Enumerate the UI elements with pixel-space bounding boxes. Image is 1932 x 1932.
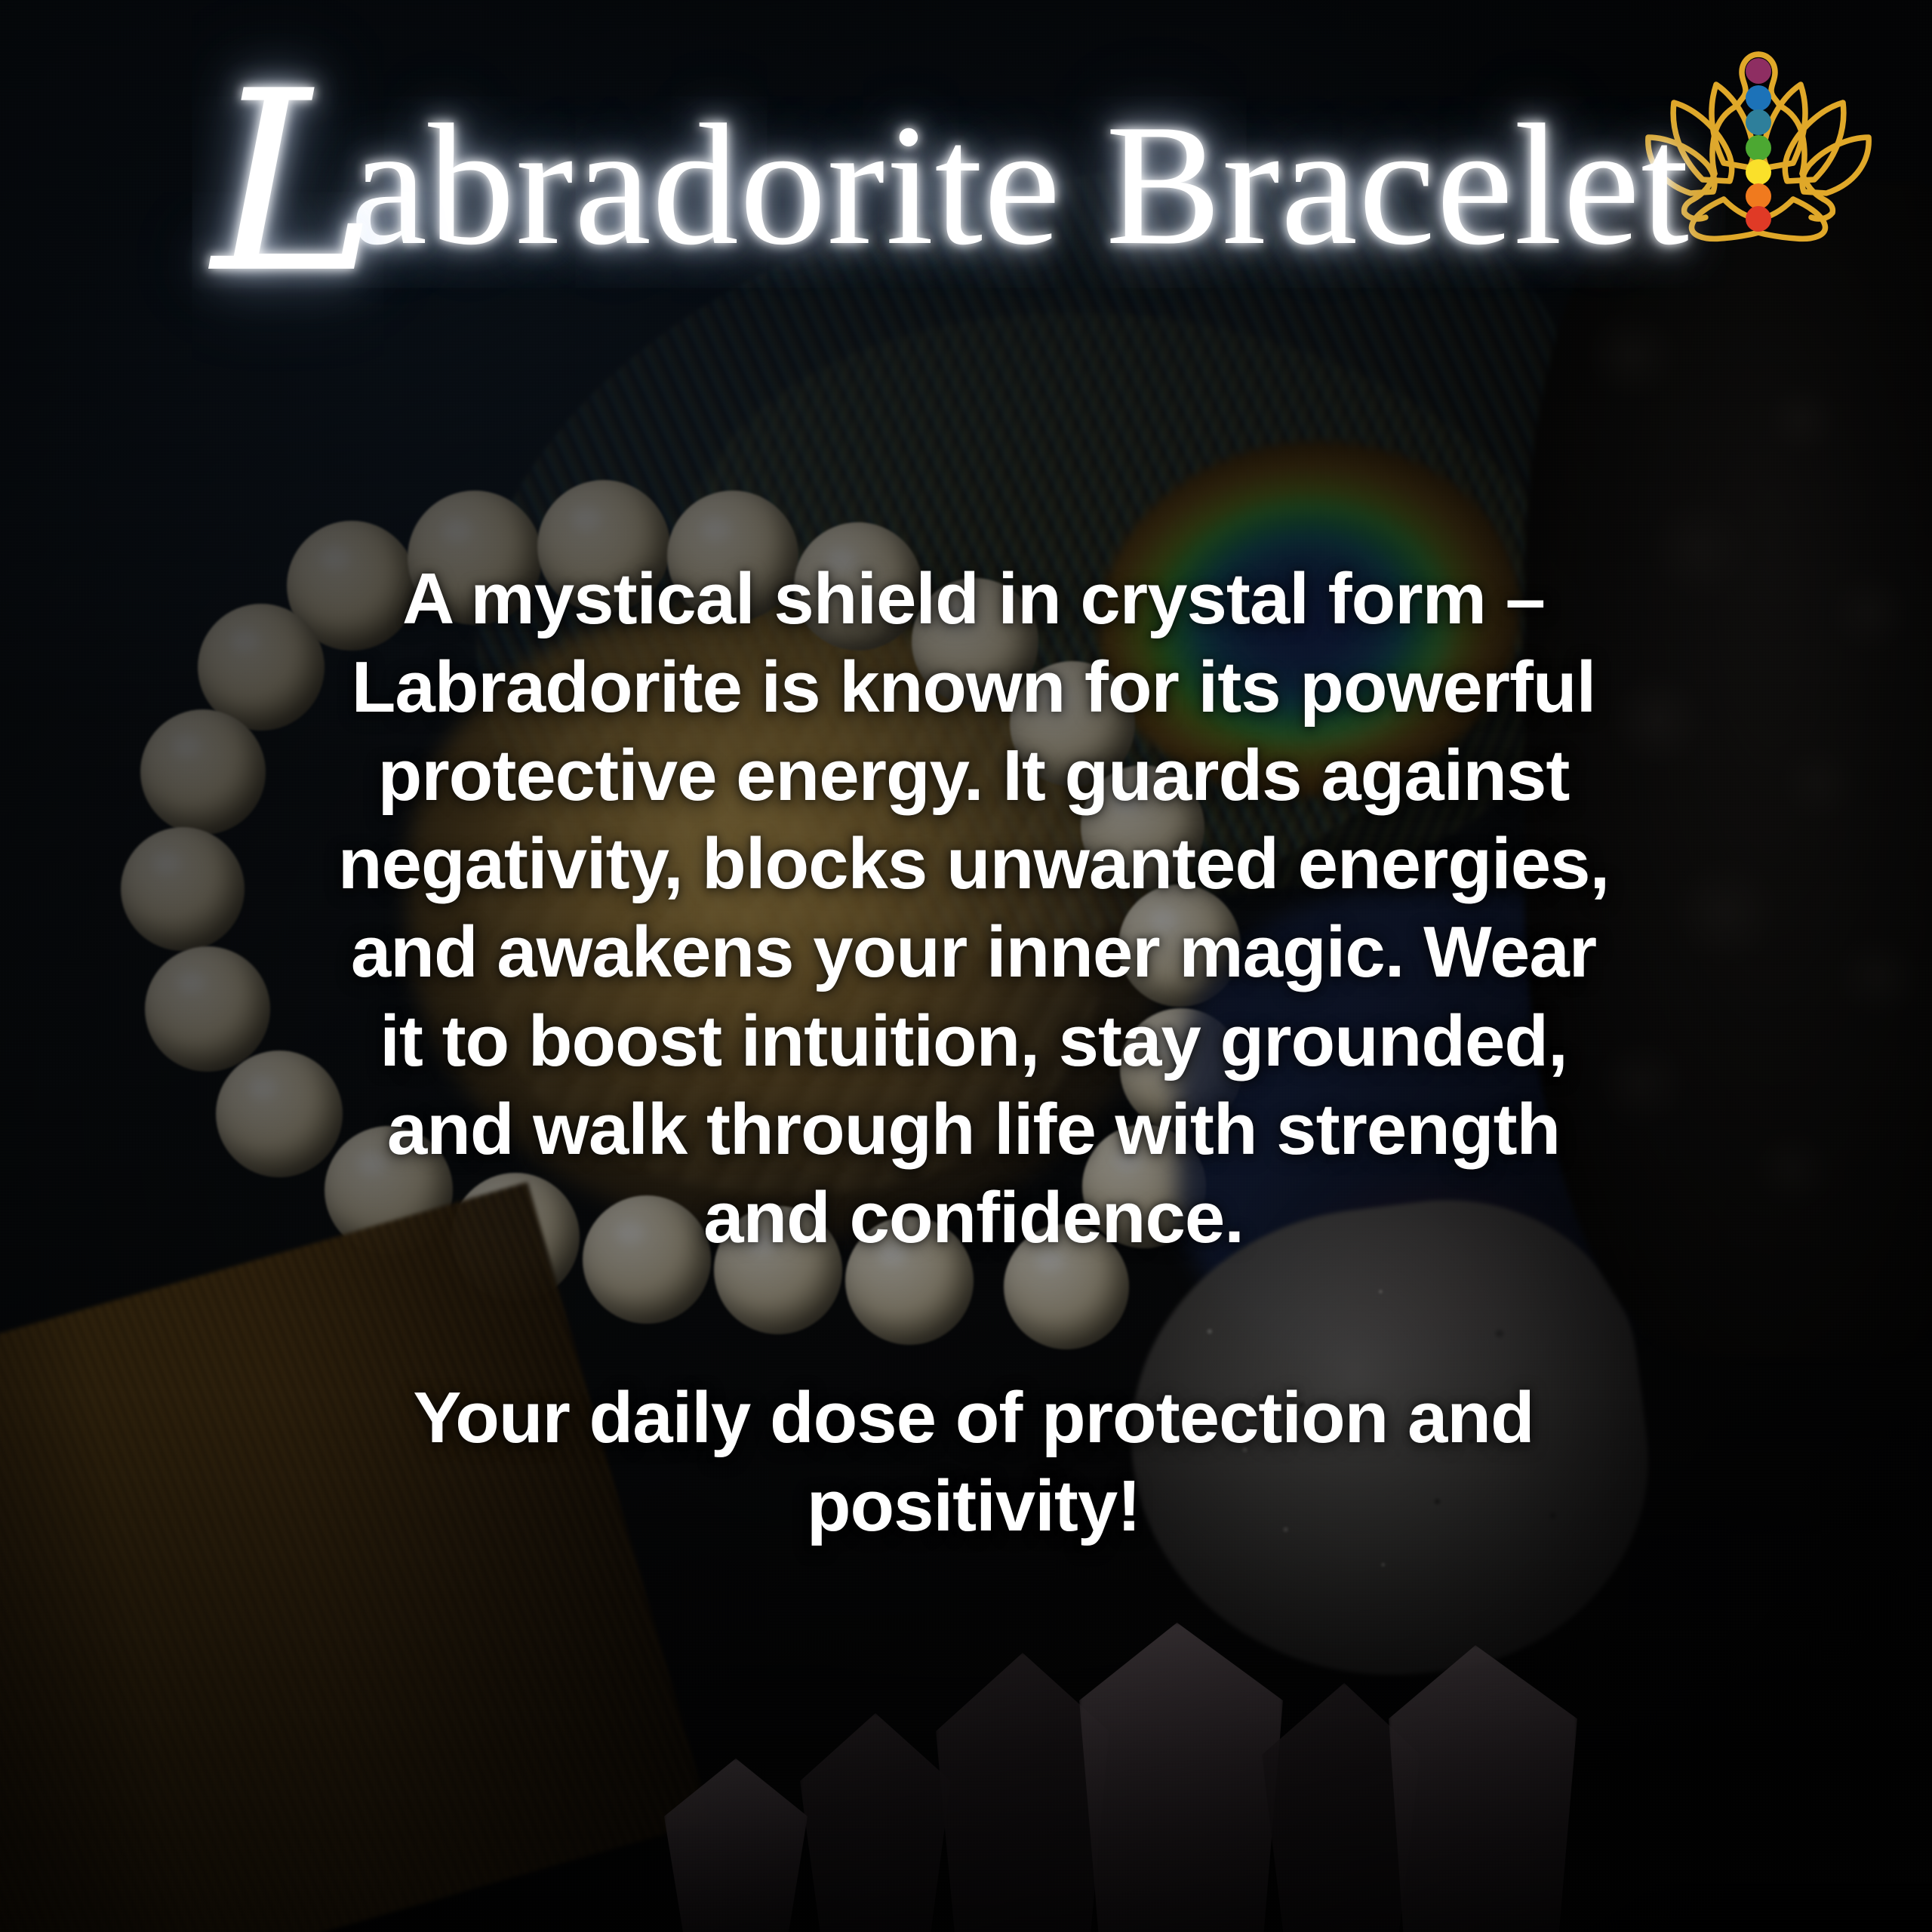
description-block: A mystical shield in crystal form – Labr… [332, 555, 1615, 1550]
paragraph-spacer [332, 1262, 1615, 1374]
poster-canvas: Labradorite Bracelet A mystical shield i… [0, 0, 1932, 1932]
crown-chakra-dot [1746, 58, 1771, 84]
page-title: Labradorite Bracelet [136, 98, 1766, 272]
title-rest: abradorite Bracelet [350, 88, 1690, 281]
description-paragraph-1: A mystical shield in crystal form – Labr… [332, 555, 1615, 1262]
title-drop-cap: L [212, 38, 370, 328]
description-paragraph-2: Your daily dose of protection and positi… [332, 1374, 1615, 1550]
